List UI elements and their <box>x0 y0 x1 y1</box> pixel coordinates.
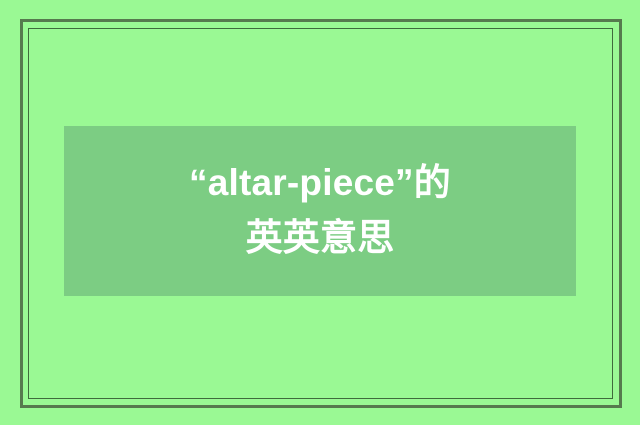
title-banner-panel: “altar-piece”的英英意思 <box>64 126 576 296</box>
page-canvas: “altar-piece”的英英意思 <box>0 0 640 425</box>
page-title: “altar-piece”的英英意思 <box>178 156 462 266</box>
